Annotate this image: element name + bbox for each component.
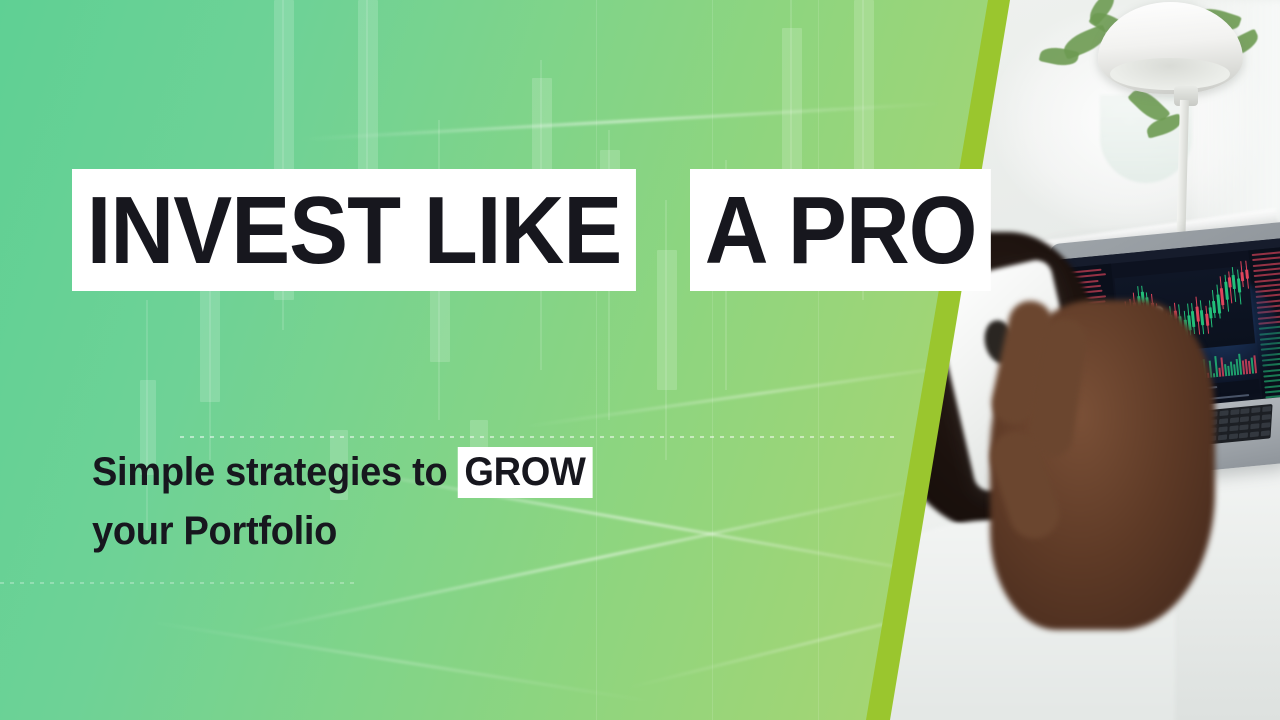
keyboard-key bbox=[1219, 418, 1228, 424]
candlestick bbox=[1245, 270, 1249, 279]
candlestick bbox=[1200, 310, 1204, 325]
keyboard-key bbox=[1251, 407, 1260, 413]
subtitle-prefix: Simple strategies to bbox=[92, 450, 458, 494]
keyboard-key bbox=[1240, 416, 1249, 422]
keyboard-key bbox=[1262, 406, 1271, 412]
order-book-row bbox=[1254, 277, 1280, 282]
candlestick bbox=[1241, 272, 1245, 281]
promo-banner: INVEST LIKE A PRO Simple strategies to G… bbox=[0, 0, 1280, 720]
keyboard-key bbox=[1218, 434, 1227, 440]
candlestick bbox=[1212, 301, 1216, 313]
subtitle: Simple strategies to GROW your Portfolio bbox=[92, 443, 592, 561]
order-book-row bbox=[1252, 256, 1280, 261]
candle-wick bbox=[1245, 260, 1249, 288]
keyboard-key bbox=[1240, 408, 1249, 414]
subtitle-line-2: your Portfolio bbox=[92, 502, 592, 561]
keyboard-key bbox=[1261, 414, 1270, 420]
grid-line bbox=[596, 0, 597, 720]
keyboard-key bbox=[1229, 417, 1238, 423]
keyboard-key bbox=[1219, 410, 1228, 416]
candle-wick bbox=[1200, 300, 1204, 333]
grid-line bbox=[712, 0, 713, 720]
headline-line-2: A PRO bbox=[690, 169, 991, 291]
keyboard-key bbox=[1230, 409, 1239, 415]
dotted-guide-line bbox=[180, 436, 900, 438]
candlestick bbox=[1228, 277, 1232, 287]
keyboard-key bbox=[1229, 425, 1238, 431]
keyboard-key bbox=[1251, 415, 1260, 421]
keyboard-key bbox=[1239, 432, 1248, 438]
keyboard-key bbox=[1250, 423, 1259, 429]
headline: INVEST LIKE A PRO bbox=[72, 155, 1017, 291]
candlestick bbox=[1205, 314, 1209, 326]
candle-wick bbox=[1232, 267, 1236, 302]
order-book-row bbox=[1253, 261, 1280, 266]
desk-lamp-inner bbox=[1110, 58, 1230, 90]
candlestick bbox=[1220, 288, 1225, 305]
order-book-row bbox=[1255, 283, 1280, 288]
order-book-row bbox=[1254, 272, 1280, 277]
order-book-row bbox=[1265, 388, 1280, 393]
headline-line-1: INVEST LIKE bbox=[72, 169, 636, 291]
order-book-row bbox=[1252, 251, 1280, 256]
keyboard-key bbox=[1261, 422, 1270, 428]
volume-bar bbox=[1253, 355, 1257, 373]
subtitle-highlight-grow: GROW bbox=[458, 447, 593, 498]
order-book-row bbox=[1253, 267, 1280, 272]
keyboard-key bbox=[1228, 433, 1237, 439]
candlestick bbox=[1195, 307, 1199, 323]
candlestick bbox=[1232, 275, 1236, 289]
order-book-row bbox=[1264, 383, 1280, 388]
candle-wick bbox=[1195, 297, 1200, 334]
subtitle-line-1: Simple strategies to GROW bbox=[92, 443, 592, 502]
dotted-guide-line bbox=[0, 582, 360, 584]
keyboard-key bbox=[1260, 430, 1269, 436]
keyboard-key bbox=[1250, 431, 1259, 437]
candlestick bbox=[1209, 307, 1213, 318]
keyboard-key bbox=[1239, 424, 1248, 430]
candle-wick bbox=[1241, 262, 1244, 288]
volume-bar bbox=[1213, 373, 1215, 377]
keyboard-key bbox=[1218, 426, 1227, 432]
